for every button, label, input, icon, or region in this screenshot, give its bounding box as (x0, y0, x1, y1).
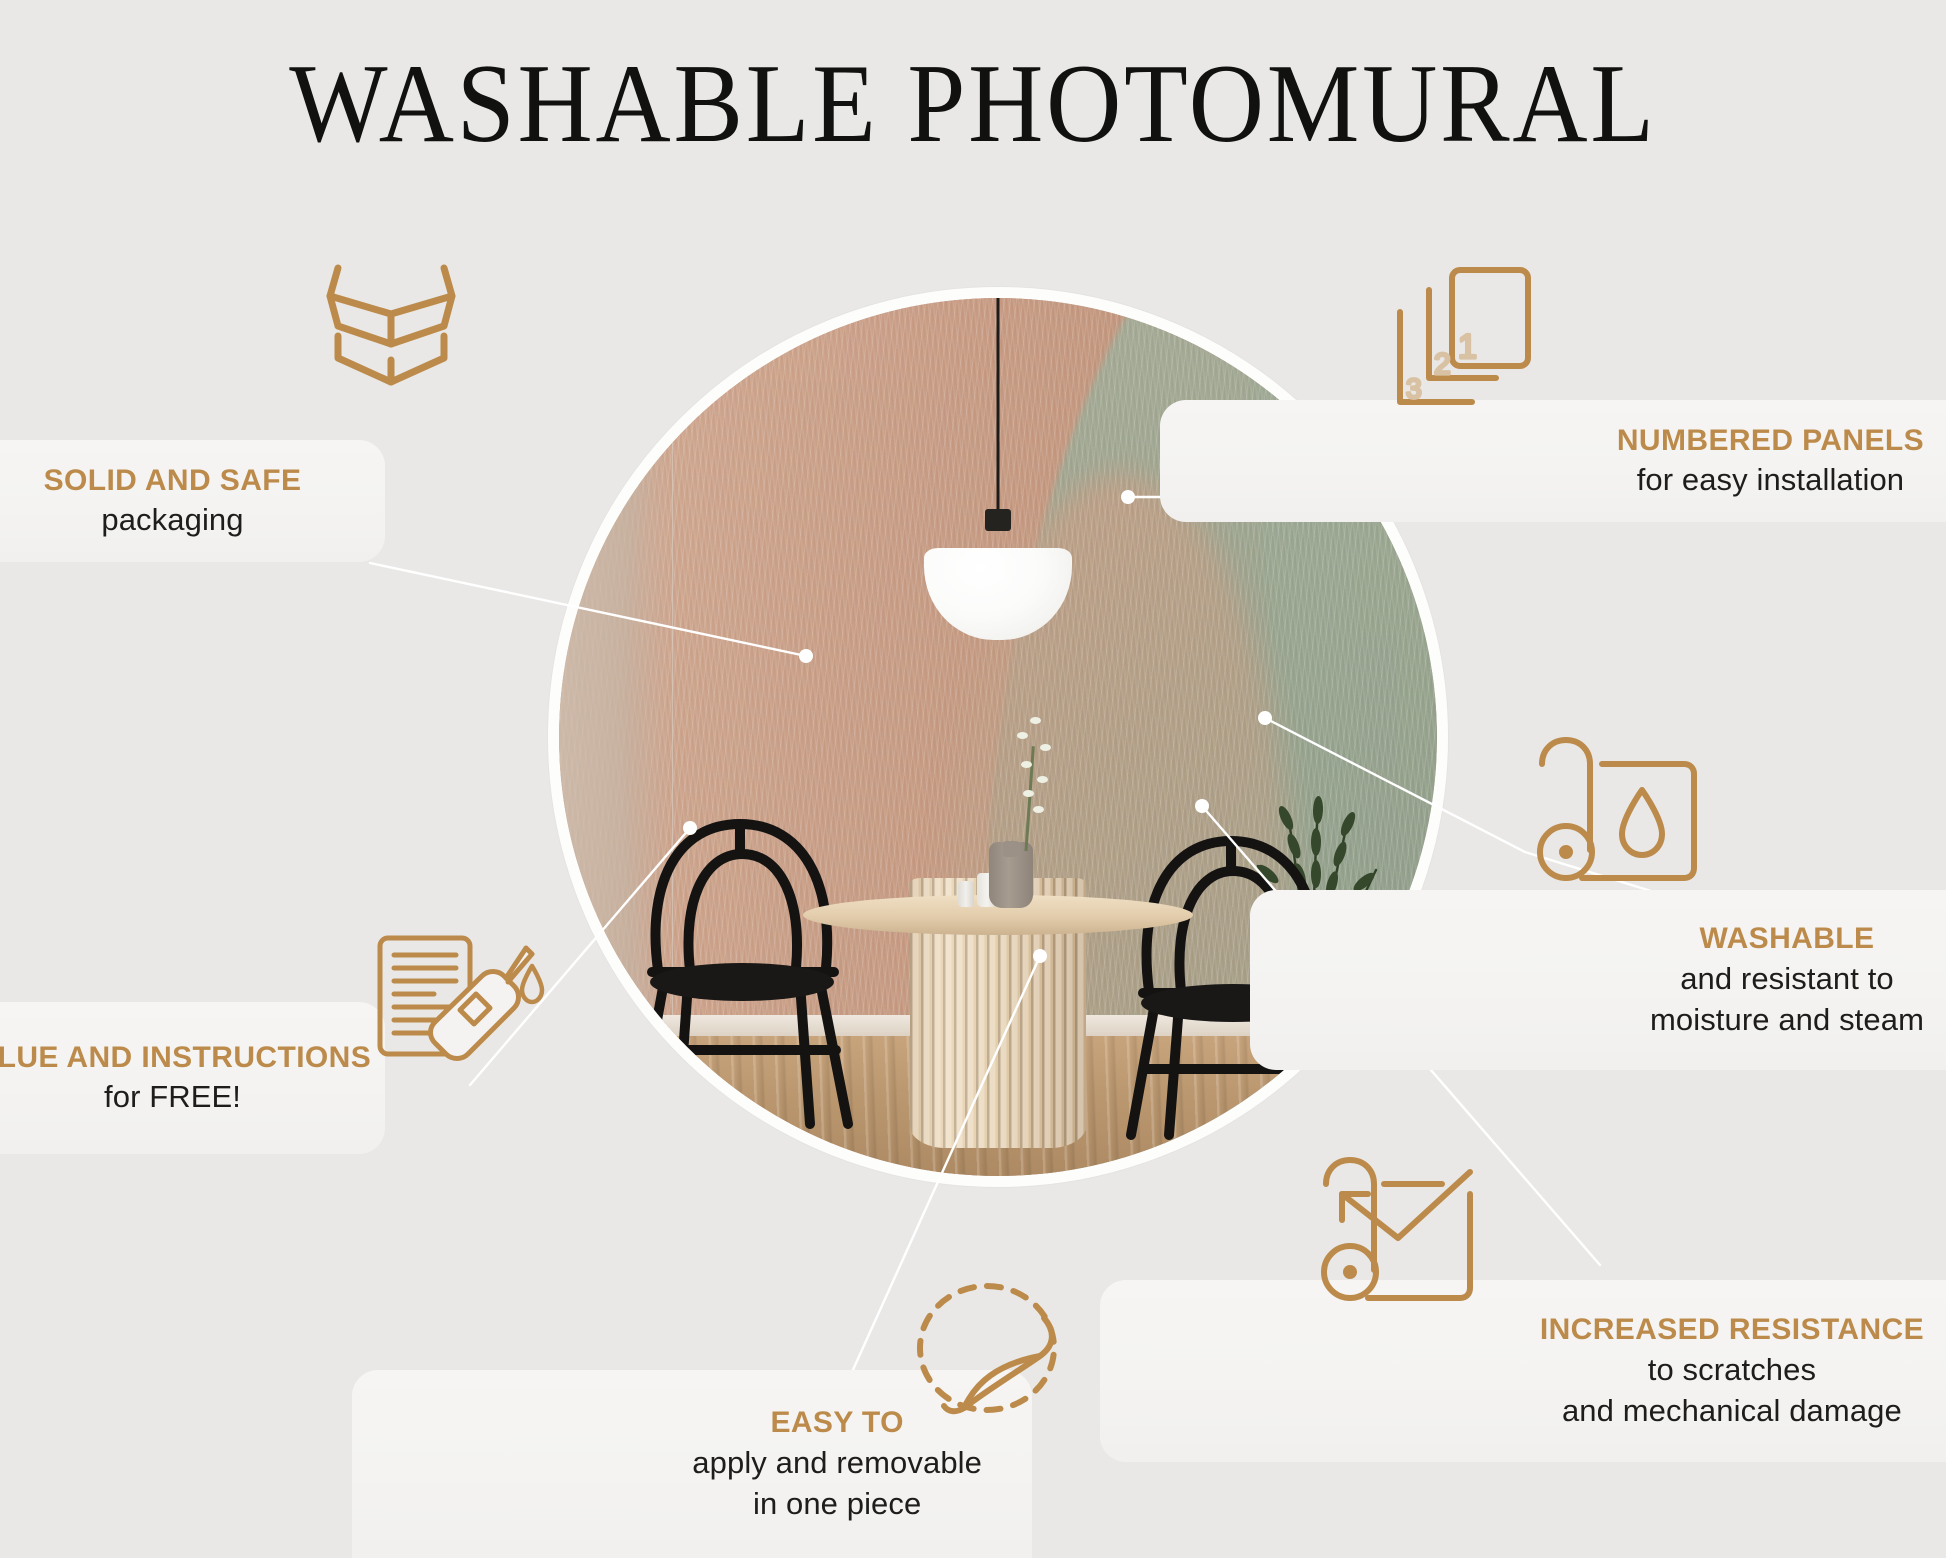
feature-card-text: NUMBERED PANELS for easy installation (1591, 421, 1946, 502)
feature-title: GLUE AND INSTRUCTIONS (0, 1038, 371, 1078)
flower-bud (1023, 790, 1034, 797)
pendant-lamp-cord (997, 298, 1000, 509)
peeling-sticker-icon (902, 1278, 1072, 1423)
flower-bud (1017, 732, 1028, 739)
feature-card-text: WASHABLE and resistant to moisture and s… (1624, 919, 1946, 1040)
feature-subtitle-line1: apply and removable (692, 1443, 982, 1484)
glue-bottle-and-document-icon (372, 930, 572, 1080)
feature-subtitle: for easy installation (1617, 460, 1924, 501)
pendant-lamp-cap (985, 509, 1011, 531)
feature-card-solid-and-safe[interactable]: SOLID AND SAFE packaging (0, 440, 385, 562)
feature-subtitle-line1: and resistant to (1650, 959, 1924, 1000)
infographic-stage: WASHABLE PHOTOMURAL (0, 0, 1946, 1558)
feature-title: INCREASED RESISTANCE (1540, 1310, 1924, 1350)
feature-subtitle-line2: in one piece (692, 1484, 982, 1525)
flower-bud (1030, 717, 1041, 724)
feature-card-increased-resistance[interactable]: INCREASED RESISTANCE to scratches and me… (1100, 1280, 1946, 1462)
feature-card-text: SOLID AND SAFE packaging (18, 461, 328, 542)
panel-number-2: 2 (1434, 348, 1451, 381)
feature-subtitle-line1: to scratches (1540, 1350, 1924, 1391)
small-bottle-2 (958, 881, 974, 907)
page-title: WASHABLE PHOTOMURAL (68, 42, 1878, 167)
flower-bud (1037, 776, 1048, 783)
feature-card-glue-and-instructions[interactable]: GLUE AND INSTRUCTIONS for FREE! (0, 1002, 385, 1154)
feature-card-washable[interactable]: WASHABLE and resistant to moisture and s… (1250, 890, 1946, 1070)
feature-card-text: INCREASED RESISTANCE to scratches and me… (1514, 1310, 1946, 1431)
wallpaper-roll-scratch-icon (1312, 1150, 1502, 1310)
feature-title: SOLID AND SAFE (44, 461, 302, 501)
feature-subtitle: packaging (44, 500, 302, 541)
ceramic-vase-neck (1003, 841, 1019, 857)
feature-subtitle-line2: and mechanical damage (1540, 1391, 1924, 1432)
flower-bud (1033, 806, 1044, 813)
cardboard-box-icon (316, 250, 466, 400)
flower-bud (1021, 761, 1032, 768)
feature-subtitle-line2: moisture and steam (1650, 1000, 1924, 1041)
chair-left (612, 732, 882, 1132)
panel-number-1: 1 (1458, 328, 1477, 366)
wallpaper-roll-water-drop-icon (1524, 728, 1714, 888)
panel-number-3: 3 (1406, 373, 1422, 404)
numbered-panels-icon: 1 2 3 (1384, 262, 1554, 422)
feature-title: WASHABLE (1650, 919, 1924, 959)
feature-subtitle: for FREE! (0, 1077, 371, 1118)
feature-title: NUMBERED PANELS (1617, 421, 1924, 461)
feature-card-text: GLUE AND INSTRUCTIONS for FREE! (0, 1038, 397, 1119)
